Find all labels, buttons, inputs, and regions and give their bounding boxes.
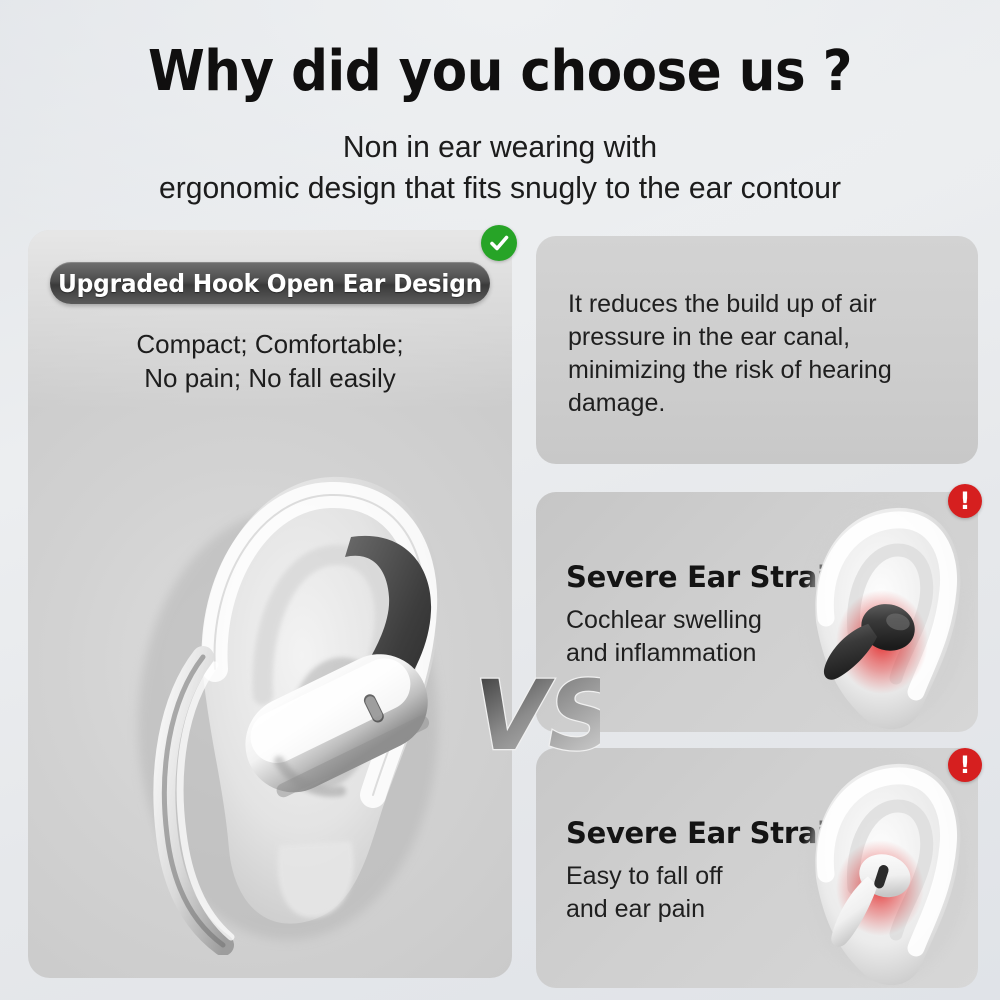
problem-card-stem-earbud: Severe Ear Strain Easy to fall off and e…	[536, 748, 978, 988]
hero-benefits: Compact; Comfortable; No pain; No fall e…	[28, 327, 512, 395]
hero-panel: Upgraded Hook Open Ear Design Compact; C…	[28, 230, 512, 978]
hero-benefit-line-2: No pain; No fall easily	[28, 361, 512, 395]
vs-label: VS	[470, 655, 600, 775]
benefit-card-air-pressure: It reduces the build up of air pressure …	[536, 236, 978, 464]
check-circle-icon	[481, 225, 517, 261]
vs-text: VS	[474, 660, 600, 772]
feature-badge: Upgraded Hook Open Ear Design	[50, 262, 490, 304]
ear-with-in-ear-bud-image	[774, 492, 978, 732]
card-line-2: pressure in the ear canal,	[568, 321, 928, 354]
card-line-2: and ear pain	[566, 893, 723, 926]
page-title: Why did you choose us ?	[40, 40, 960, 104]
subtitle-line-1: Non in ear wearing with	[15, 126, 985, 167]
page-subtitle: Non in ear wearing with ergonomic design…	[15, 126, 985, 208]
problem-card-in-ear-strain: Severe Ear Strain Cochlear swelling and …	[536, 492, 978, 732]
check-glyph	[488, 232, 510, 254]
alert-circle-icon: !	[948, 484, 982, 518]
alert-glyph: !	[960, 753, 971, 777]
card-line-1: It reduces the build up of air	[568, 288, 928, 321]
ear-with-stem-bud-image	[774, 748, 978, 988]
card-body-text: It reduces the build up of air pressure …	[568, 288, 928, 420]
alert-circle-icon: !	[948, 748, 982, 782]
alert-glyph: !	[960, 489, 971, 513]
infographic-root: Why did you choose us ? Non in ear weari…	[0, 0, 1000, 1000]
card-line-1: Cochlear swelling	[566, 604, 762, 637]
product-image	[83, 425, 483, 955]
card-description: Easy to fall off and ear pain	[566, 860, 723, 926]
feature-badge-label: Upgraded Hook Open Ear Design	[58, 269, 482, 298]
card-line-3: minimizing the risk of hearing	[568, 354, 928, 387]
card-line-1: Easy to fall off	[566, 860, 723, 893]
card-line-4: damage.	[568, 387, 928, 420]
subtitle-line-2: ergonomic design that fits snugly to the…	[15, 167, 985, 208]
hero-benefit-line-1: Compact; Comfortable;	[28, 327, 512, 361]
